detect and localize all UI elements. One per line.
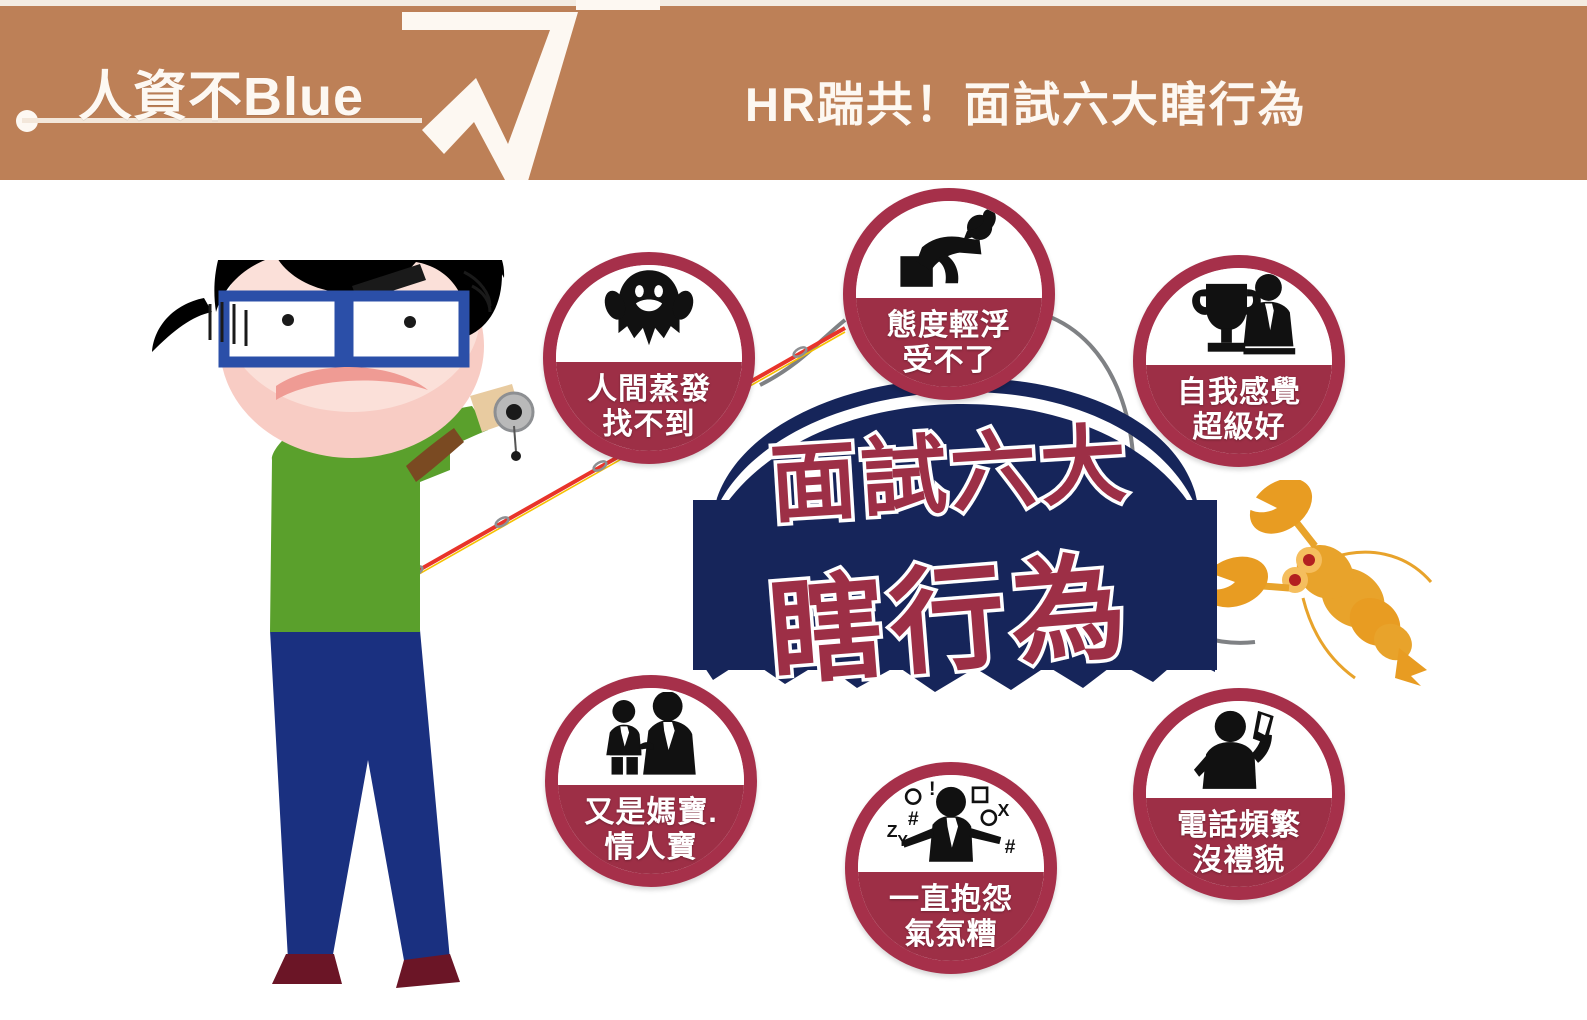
badge-label-line2: 情人寶	[605, 830, 698, 865]
badge-complaining[interactable]: ! X # # Z Y 一直抱怨 氣氛糟	[845, 762, 1057, 974]
mascot-pants	[270, 630, 450, 966]
page-title: HR踹共！面試六大瞎行為	[745, 66, 1307, 135]
infographic-stage: 面試六大 瞎行為 人間蒸發 找不到	[0, 180, 1587, 1012]
badge-phone[interactable]: 電話頻繁 沒禮貌	[1133, 688, 1345, 900]
svg-text:X: X	[998, 800, 1010, 820]
badge-mamas-boy[interactable]: 又是媽寶. 情人寶	[545, 675, 757, 887]
center-title-line2: 瞎行為	[690, 528, 1210, 694]
mascot-character	[120, 260, 550, 1020]
badge-label-line1: 人間蒸發	[587, 372, 711, 407]
badge-label: 電話頻繁 沒禮貌	[1146, 798, 1332, 887]
ghost-icon	[556, 265, 742, 362]
badge-label: 一直抱怨 氣氛糟	[858, 872, 1044, 961]
badge-label-line1: 一直抱怨	[889, 882, 1013, 917]
brand-logo[interactable]: 人資不Blue	[78, 52, 364, 131]
trophy-businessman-icon	[1146, 268, 1332, 365]
badge-attitude[interactable]: 態度輕浮 受不了	[843, 188, 1055, 400]
badge-label: 態度輕浮 受不了	[856, 298, 1042, 387]
center-title-line1: 面試六大	[690, 404, 1210, 529]
badge-label-line1: 電話頻繁	[1177, 808, 1301, 843]
two-people-holding-hands-icon	[558, 688, 744, 785]
badge-label-line1: 態度輕浮	[887, 308, 1011, 343]
checkmark-icon	[400, 0, 660, 180]
svg-text:!: !	[929, 779, 935, 800]
lobster-icon	[1205, 480, 1445, 690]
badge-label: 自我感覺 超級好	[1146, 365, 1332, 454]
svg-text:#: #	[1005, 836, 1016, 858]
mascot-eye-left	[282, 314, 294, 326]
badge-label-line1: 又是媽寶.	[584, 795, 717, 830]
mascot-eye-right	[404, 316, 416, 328]
glasses-icon	[224, 296, 464, 362]
lobster-eye-left	[1303, 554, 1315, 566]
badge-label: 又是媽寶. 情人寶	[558, 785, 744, 874]
center-title-line2-text: 瞎行為	[763, 514, 1138, 708]
badge-label-line2: 受不了	[903, 343, 996, 378]
reclining-person-icon	[856, 201, 1042, 298]
svg-text:Z: Z	[887, 821, 898, 841]
page-header: 人資不Blue HR踹共！面試六大瞎行為	[0, 0, 1587, 180]
svg-text:#: #	[908, 808, 919, 830]
person-on-phone-icon	[1146, 701, 1332, 798]
center-title: 面試六大 瞎行為	[690, 398, 1210, 718]
header-top-rule	[0, 0, 1587, 6]
badge-label-line2: 超級好	[1193, 410, 1286, 445]
badge-label-line2: 沒禮貌	[1193, 843, 1286, 878]
svg-text:Y: Y	[897, 833, 908, 850]
badge-label-line2: 找不到	[603, 407, 696, 442]
badge-label-line2: 氣氛糟	[905, 917, 998, 952]
badge-self-esteem[interactable]: 自我感覺 超級好	[1133, 255, 1345, 467]
mascot-shoe-left	[272, 954, 342, 984]
badge-ghost[interactable]: 人間蒸發 找不到	[543, 252, 755, 464]
complaining-person-icon: ! X # # Z Y	[858, 775, 1044, 872]
badge-label: 人間蒸發 找不到	[556, 362, 742, 451]
lobster-claw-upper	[1239, 480, 1322, 546]
badge-label-line1: 自我感覺	[1177, 375, 1301, 410]
lobster-eye-right	[1289, 574, 1301, 586]
